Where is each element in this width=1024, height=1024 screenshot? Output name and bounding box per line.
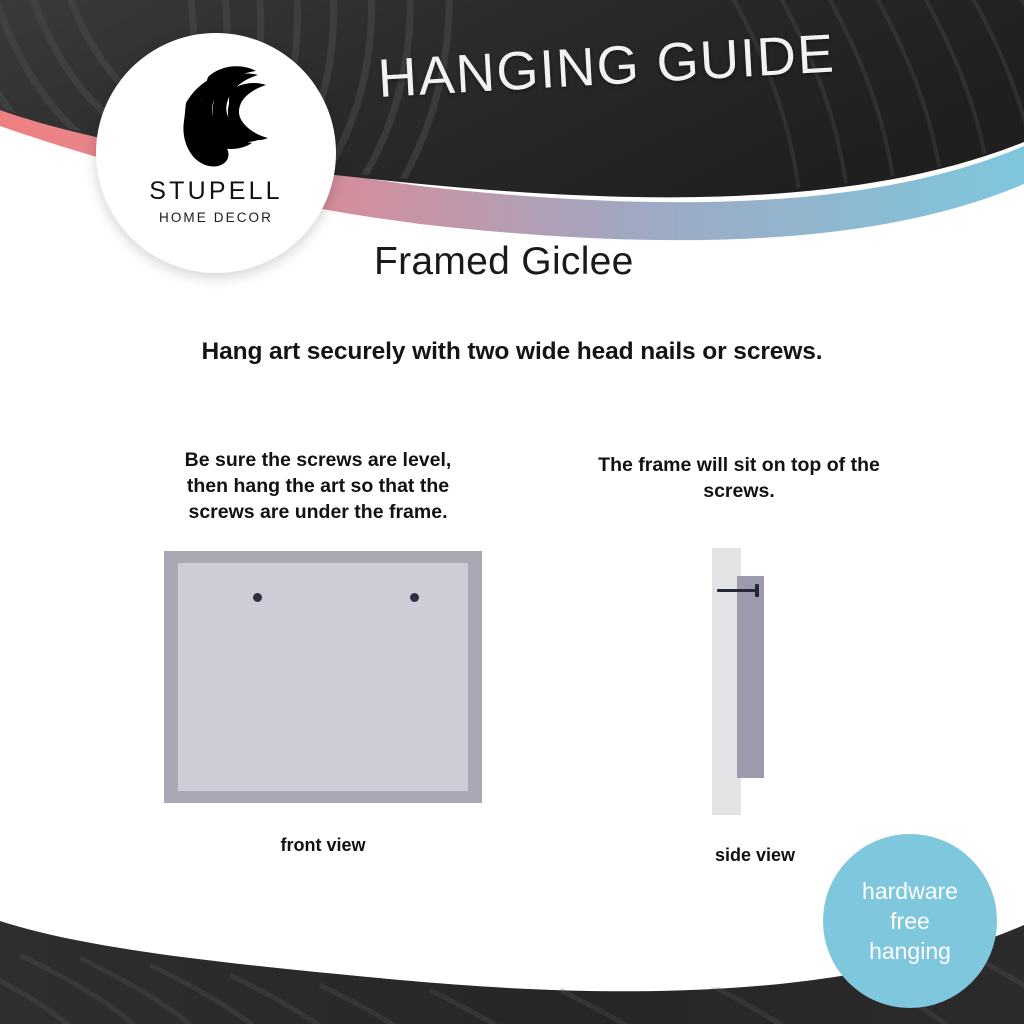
stupell-swoosh-icon xyxy=(156,59,276,171)
badge-line-3: hanging xyxy=(869,936,951,966)
side-view-note: The frame will sit on top of the screws. xyxy=(594,452,884,504)
nail-head-icon xyxy=(755,584,759,597)
logo-tagline: HOME DECOR xyxy=(159,210,273,225)
hanging-guide-page: STUPELL HOME DECOR HANGING GUIDE Framed … xyxy=(0,0,1024,1024)
logo-wordmark: STUPELL xyxy=(149,177,283,206)
front-view-diagram xyxy=(164,551,482,803)
brand-logo-badge: STUPELL HOME DECOR xyxy=(96,33,336,273)
screw-dot-left xyxy=(253,593,262,602)
product-type-label: Framed Giclee xyxy=(374,240,634,284)
hardware-free-badge: hardware free hanging xyxy=(823,834,997,1008)
frame-inner-panel xyxy=(178,563,468,791)
side-view-diagram xyxy=(705,545,805,820)
page-title: HANGING GUIDE xyxy=(376,23,836,110)
front-view-caption: front view xyxy=(164,835,482,856)
primary-instruction: Hang art securely with two wide head nai… xyxy=(0,338,1024,366)
screw-dot-right xyxy=(410,593,419,602)
front-view-note: Be sure the screws are level, then hang … xyxy=(168,447,468,525)
side-view-caption: side view xyxy=(655,845,855,866)
nail-icon xyxy=(717,589,758,592)
badge-line-1: hardware xyxy=(862,876,958,906)
badge-line-2: free xyxy=(890,906,930,936)
frame-cross-section xyxy=(737,576,764,778)
